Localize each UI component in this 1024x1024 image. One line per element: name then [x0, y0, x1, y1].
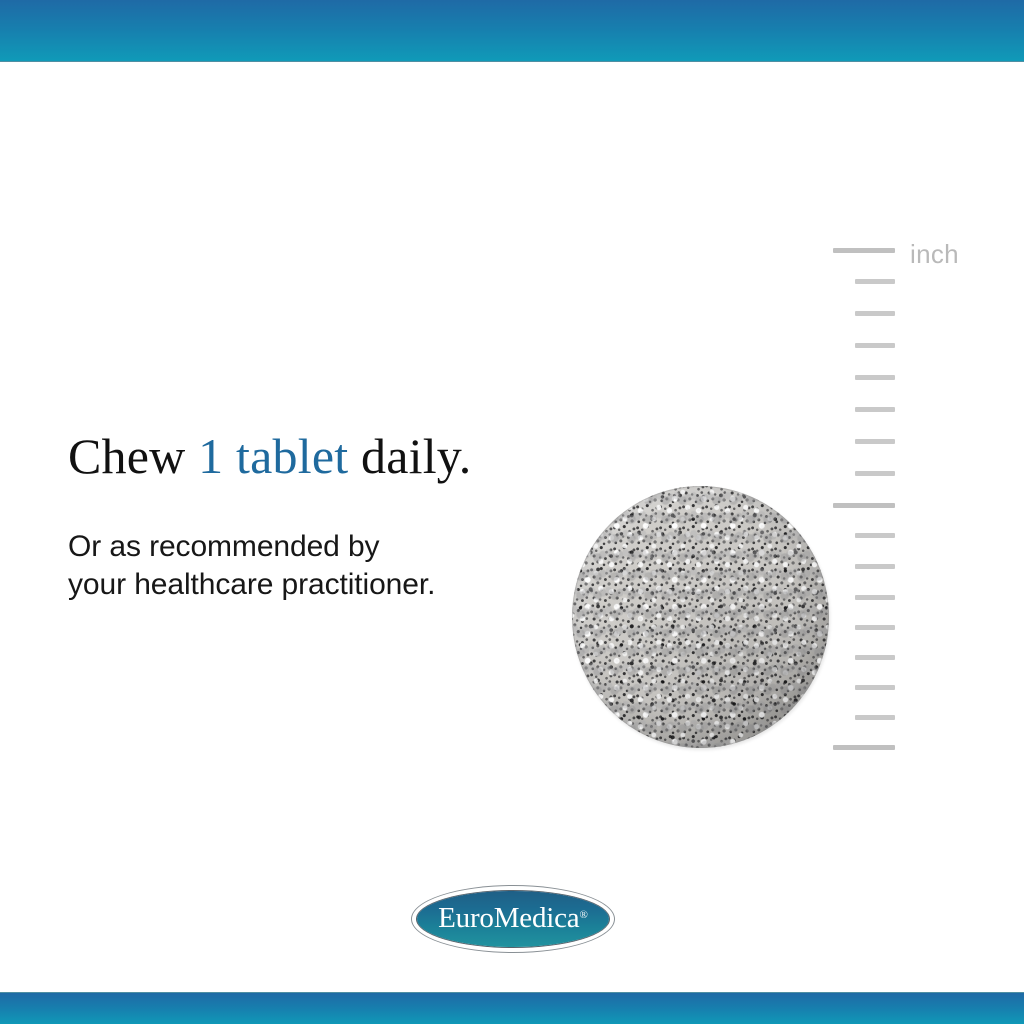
headline-lead: Chew: [68, 428, 198, 484]
ruler-tick-major: [833, 745, 895, 750]
ruler-tick-minor: [855, 533, 895, 538]
ruler-tick-minor: [855, 279, 895, 284]
ruler-tick-minor: [855, 343, 895, 348]
body-copy: Or as recommended by your healthcare pra…: [68, 528, 435, 604]
headline-accent: 1 tablet: [198, 428, 348, 484]
ruler-tick-minor: [855, 625, 895, 630]
tablet-rim: [572, 486, 829, 748]
ruler-tick-minor: [855, 407, 895, 412]
ruler-tick-minor: [855, 375, 895, 380]
ruler-tick-minor: [855, 439, 895, 444]
logo-wordmark-text: EuroMedica: [438, 902, 579, 934]
tablet-disc: [572, 486, 829, 748]
ruler-tick-major: [833, 248, 895, 253]
ruler-tick-minor: [855, 655, 895, 660]
ruler-unit-label: inch: [910, 239, 959, 270]
ruler-tick-minor: [855, 685, 895, 690]
bottom-brand-bar: [0, 992, 1024, 1024]
product-panel: Chew 1 tablet daily. Or as recommended b…: [0, 0, 1024, 1024]
ruler-tick-major: [833, 503, 895, 508]
ruler-tick-minor: [855, 564, 895, 569]
headline-trail: daily.: [348, 428, 471, 484]
ruler-tick-minor: [855, 471, 895, 476]
headline: Chew 1 tablet daily.: [68, 427, 471, 485]
ruler-tick-minor: [855, 715, 895, 720]
top-brand-bar: [0, 0, 1024, 62]
logo-wordmark: EuroMedica®: [438, 902, 588, 935]
registered-trademark-icon: ®: [579, 909, 587, 921]
ruler-tick-minor: [855, 311, 895, 316]
inch-ruler: [833, 248, 895, 750]
logo-ellipse: EuroMedica®: [417, 891, 609, 947]
euromedica-logo: EuroMedica®: [412, 886, 614, 952]
tablet-image: [572, 486, 829, 748]
ruler-tick-minor: [855, 595, 895, 600]
